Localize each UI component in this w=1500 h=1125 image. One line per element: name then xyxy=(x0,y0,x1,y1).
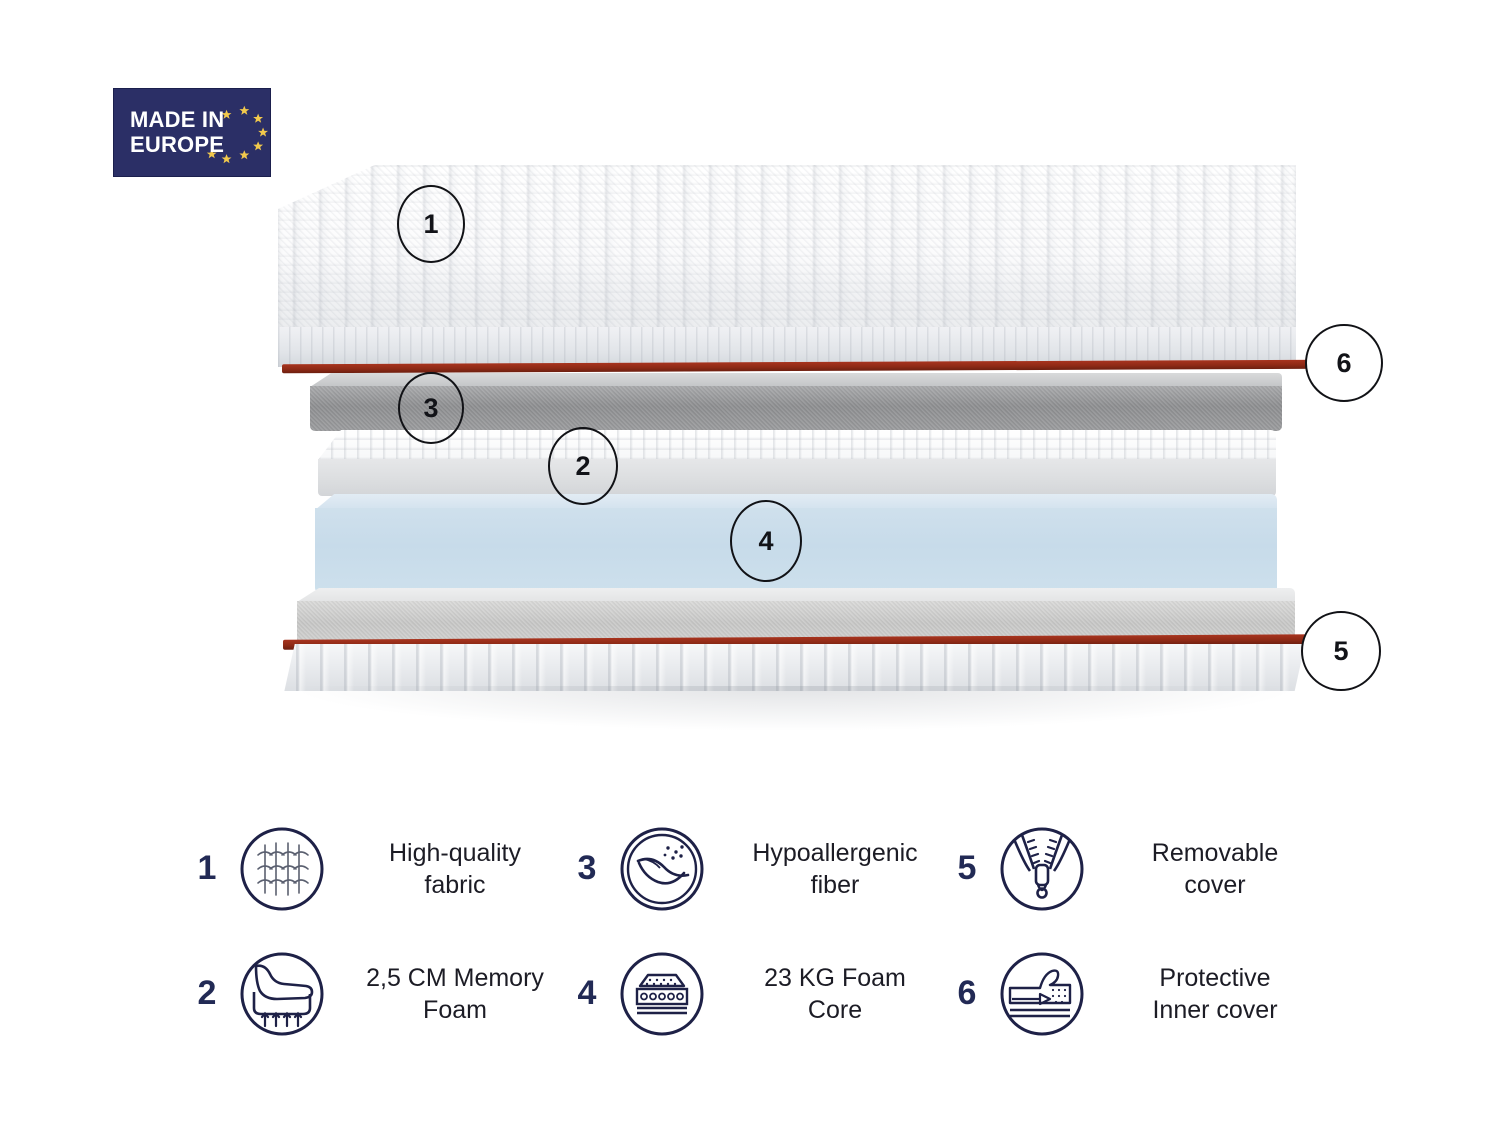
legend-number-4: 4 xyxy=(570,974,604,1013)
callout-3[interactable]: 3 xyxy=(398,372,464,444)
legend-number-2: 2 xyxy=(190,974,224,1013)
mattress-layer-removable-cover xyxy=(272,644,1305,691)
memory-foam-hand-icon xyxy=(238,950,326,1038)
legend-item-memory-foam[interactable]: 2 2,5 CM Memory Foam xyxy=(190,950,570,1038)
drop-shadow xyxy=(300,686,1290,730)
legend-label-1: High-quality fabric xyxy=(340,837,570,901)
mattress-layer-diagram: 1 3 2 4 6 5 xyxy=(0,0,1500,790)
legend-number-5: 5 xyxy=(950,849,984,888)
legend-item-high-quality-fabric[interactable]: 1 High-quality fabric xyxy=(190,825,570,913)
legend-label-3: Hypoallergenic fiber xyxy=(720,837,950,901)
legend-number-1: 1 xyxy=(190,849,224,888)
legend-item-hypoallergenic-fiber[interactable]: 3 Hypoallergenic fiber xyxy=(570,825,950,913)
callout-1[interactable]: 1 xyxy=(397,185,465,263)
legend-label-6: Protective Inner cover xyxy=(1100,962,1330,1026)
legend-item-removable-cover[interactable]: 5 Removable cover xyxy=(950,825,1330,913)
legend-label-2: 2,5 CM Memory Foam xyxy=(340,962,570,1026)
callout-4[interactable]: 4 xyxy=(730,500,802,582)
callout-6[interactable]: 6 xyxy=(1305,324,1383,402)
feather-fiber-icon xyxy=(618,825,706,913)
legend-number-3: 3 xyxy=(570,849,604,888)
mattress-layer-memory-foam xyxy=(318,430,1276,496)
inner-cover-peel-icon xyxy=(998,950,1086,1038)
legend-number-6: 6 xyxy=(950,974,984,1013)
woven-fabric-icon xyxy=(238,825,326,913)
memory-foam-top-surface xyxy=(318,430,1276,460)
zipper-icon xyxy=(998,825,1086,913)
foam-core-block-icon xyxy=(618,950,706,1038)
legend-label-5: Removable cover xyxy=(1100,837,1330,901)
legend-label-4: 23 KG Foam Core xyxy=(720,962,950,1026)
callout-5[interactable]: 5 xyxy=(1301,611,1381,691)
feature-legend: 1 High-quality fabric 3 xyxy=(190,806,1330,1056)
legend-item-foam-core[interactable]: 4 23 KG Foam Core xyxy=(570,950,950,1038)
memory-foam-front-face xyxy=(318,459,1276,496)
callout-2[interactable]: 2 xyxy=(548,427,618,505)
base-foam-top-surface xyxy=(297,588,1295,602)
legend-item-protective-inner-cover[interactable]: 6 Protective Inner cover xyxy=(950,950,1330,1038)
